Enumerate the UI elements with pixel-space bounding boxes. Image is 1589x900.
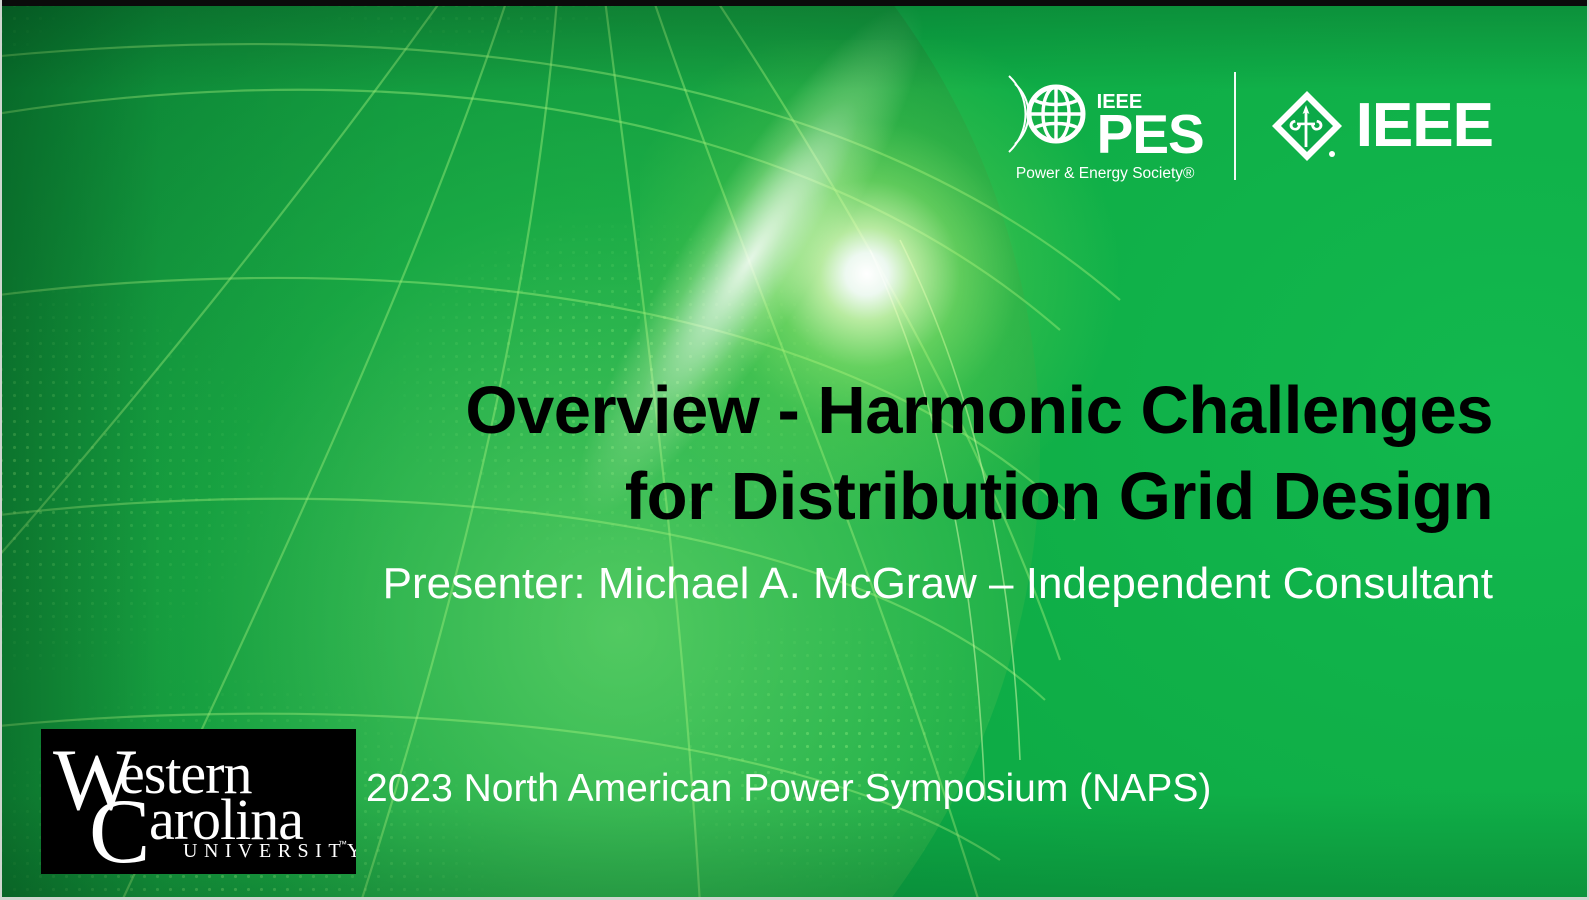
- slide-top-border: [0, 0, 1589, 6]
- wcu-university-text: UNIVERSITY: [183, 841, 356, 861]
- globe-icon: [1007, 70, 1095, 158]
- ieee-logo: IEEE: [1270, 89, 1493, 163]
- ieee-pes-logo: IEEE PES Power & Energy Society®: [1007, 70, 1204, 183]
- pes-word: PES: [1097, 111, 1204, 158]
- presentation-slide: 0100101011010010110100101011010010110100…: [0, 0, 1589, 900]
- presenter-line: Presenter: Michael A. McGraw – Independe…: [120, 556, 1493, 612]
- pes-tagline: Power & Energy Society®: [1016, 165, 1195, 183]
- title-line-2: for Distribution Grid Design: [120, 454, 1493, 540]
- page-title: Overview - Harmonic Challenges for Distr…: [120, 368, 1493, 540]
- event-line: 2023 North American Power Symposium (NAP…: [366, 765, 1211, 813]
- western-carolina-university-logo: W estern C arolina UNIVERSITY ™: [41, 729, 356, 874]
- title-line-1: Overview - Harmonic Challenges: [120, 368, 1493, 454]
- wcu-c-initial: C: [89, 785, 150, 874]
- logo-divider: [1234, 72, 1236, 180]
- ieee-word: IEEE: [1356, 95, 1493, 157]
- ieee-diamond-kite-icon: [1270, 89, 1344, 163]
- wcu-trademark-symbol: ™: [338, 839, 347, 849]
- logo-bar: IEEE PES Power & Energy Society®: [1007, 62, 1493, 190]
